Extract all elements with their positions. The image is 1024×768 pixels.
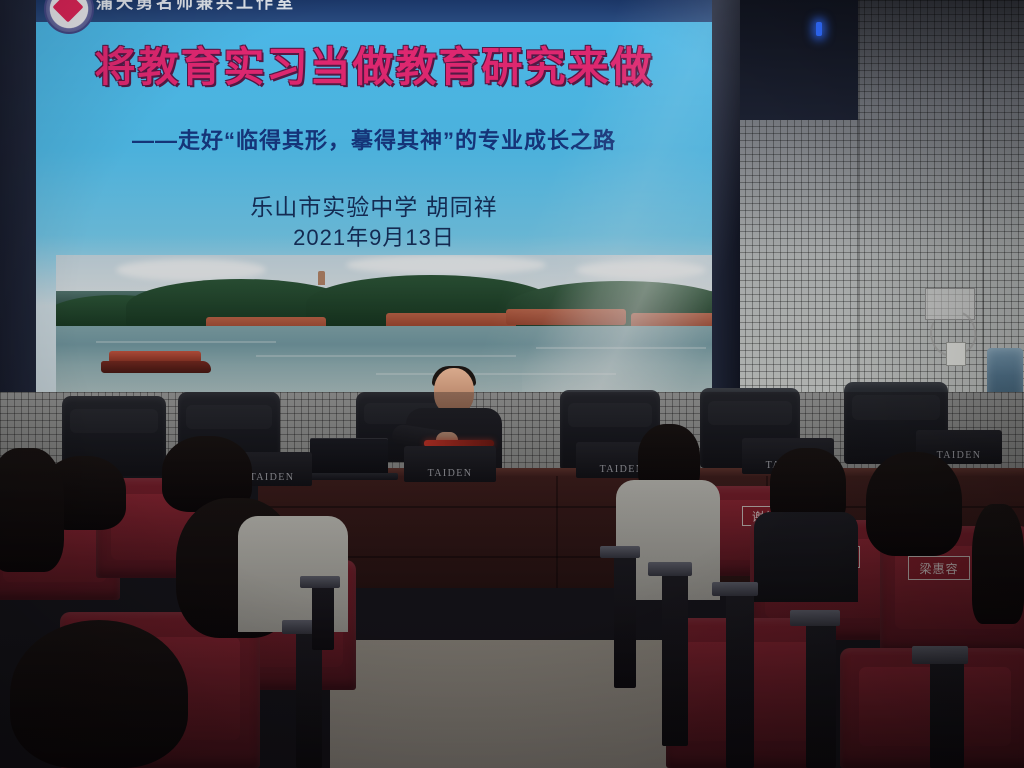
seat-tablet-top bbox=[600, 546, 640, 558]
wall-dark-corner bbox=[738, 0, 858, 120]
mic-brand-label: TAIDEN bbox=[404, 468, 496, 479]
person-torso bbox=[754, 512, 858, 602]
audience-person bbox=[972, 504, 1024, 624]
slide-photo-river-landscape bbox=[56, 255, 712, 392]
seat-name-plate: 梁惠容 bbox=[908, 556, 970, 580]
seat-tablet-arm bbox=[614, 548, 636, 688]
person-hair bbox=[972, 504, 1024, 624]
seat-tablet-arm bbox=[930, 652, 964, 768]
seat-tablet-top bbox=[790, 610, 840, 626]
person-hair bbox=[0, 448, 64, 572]
screen-border-left bbox=[0, 0, 36, 392]
audience-person bbox=[0, 448, 64, 572]
slide-presenter: 乐山市实验中学 胡同祥 bbox=[36, 188, 712, 222]
lecture-hall-photo: 蒲天勇名师兼共工作室 将教育实习当做教育研究来做 ——走好“临得其形，摹得其神”… bbox=[0, 0, 1024, 768]
slide-subtitle: ——走好“临得其形，摹得其神”的专业成长之路 bbox=[36, 123, 712, 155]
audience-person bbox=[866, 452, 962, 556]
desk-seam bbox=[556, 476, 558, 588]
slide-date: 2021年9月13日 bbox=[36, 220, 712, 252]
workshop-seal-logo-icon bbox=[44, 0, 94, 34]
slide-title: 将教育实习当做教育研究来做 bbox=[36, 33, 712, 93]
projection-screen: 蒲天勇名师兼共工作室 将教育实习当做教育研究来做 ——走好“临得其形，摹得其神”… bbox=[0, 0, 740, 392]
wall-outlet bbox=[946, 342, 966, 366]
laptop-screen bbox=[310, 438, 388, 476]
photo-cloud bbox=[116, 259, 266, 281]
seat-tablet-arm bbox=[806, 614, 836, 768]
photo-cloud bbox=[346, 255, 546, 275]
seat-tablet-arm bbox=[312, 580, 334, 650]
photo-light-sheen bbox=[522, 255, 712, 392]
seat-tablet-top bbox=[712, 582, 758, 596]
seat-tablet-top bbox=[912, 646, 968, 664]
audience-person bbox=[10, 620, 188, 768]
taiden-mic-unit: TAIDEN bbox=[404, 446, 496, 482]
seat-tablet-top bbox=[648, 562, 692, 576]
screen-border-right bbox=[712, 0, 740, 392]
person-hair bbox=[866, 452, 962, 556]
seat-tablet-arm bbox=[726, 586, 754, 768]
presentation-slide: 蒲天勇名师兼共工作室 将教育实习当做教育研究来做 ——走好“临得其形，摹得其神”… bbox=[36, 0, 712, 392]
led-indicator-icon bbox=[816, 22, 822, 36]
seat-tablet-top bbox=[300, 576, 340, 588]
laptop-base bbox=[302, 473, 398, 480]
boat-hull bbox=[101, 361, 211, 373]
photo-ripple bbox=[96, 341, 276, 343]
slide-header-text: 蒲天勇名师兼共工作室 bbox=[96, 0, 296, 13]
photo-pagoda bbox=[318, 271, 325, 285]
photo-ripple bbox=[256, 355, 516, 357]
person-hair bbox=[10, 620, 188, 768]
photo-boat bbox=[101, 351, 211, 373]
seat-tablet-arm bbox=[662, 566, 688, 746]
